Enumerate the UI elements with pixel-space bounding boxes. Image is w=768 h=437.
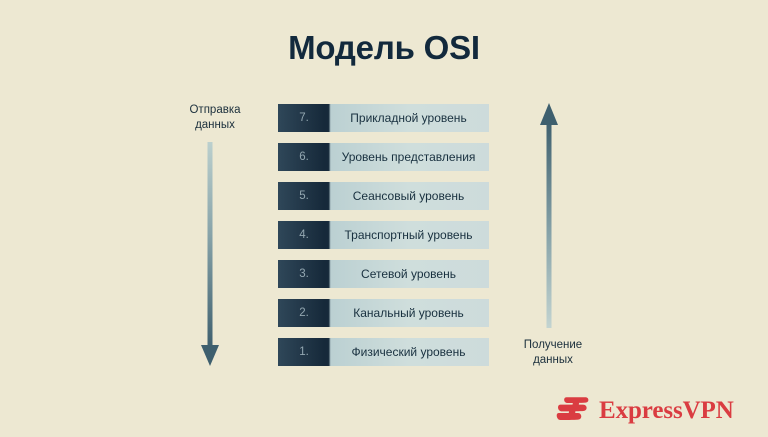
osi-layer-label: Канальный уровень — [330, 299, 489, 327]
osi-layer-row[interactable]: 6. Уровень представления — [278, 143, 489, 171]
osi-layer-row[interactable]: 7. Прикладной уровень — [278, 104, 489, 132]
osi-layer-stack: 7. Прикладной уровень 6. Уровень предста… — [278, 104, 489, 377]
diagram-canvas: Модель OSI Отправка данных 7. Прикладной… — [0, 0, 768, 437]
osi-layer-label: Сеансовый уровень — [330, 182, 489, 210]
osi-layer-row[interactable]: 1. Физический уровень — [278, 338, 489, 366]
send-data-label-line1: Отправка — [150, 103, 280, 118]
expressvpn-e-mark-icon — [556, 396, 590, 424]
send-data-label: Отправка данных — [150, 103, 280, 133]
osi-layer-number: 7. — [278, 104, 330, 132]
send-data-label-line2: данных — [150, 118, 280, 133]
osi-layer-row[interactable]: 4. Транспортный уровень — [278, 221, 489, 249]
expressvpn-logo[interactable]: ExpressVPN — [556, 396, 734, 424]
osi-layer-number: 6. — [278, 143, 330, 171]
page-title: Модель OSI — [0, 28, 768, 68]
receive-data-label-line1: Получение — [488, 338, 618, 353]
osi-layer-label: Прикладной уровень — [330, 104, 489, 132]
osi-layer-row[interactable]: 5. Сеансовый уровень — [278, 182, 489, 210]
osi-layer-label: Уровень представления — [330, 143, 489, 171]
osi-layer-label: Транспортный уровень — [330, 221, 489, 249]
osi-layer-number: 2. — [278, 299, 330, 327]
osi-layer-number: 5. — [278, 182, 330, 210]
expressvpn-wordmark: ExpressVPN — [599, 397, 734, 424]
osi-layer-number: 3. — [278, 260, 330, 288]
osi-layer-number: 1. — [278, 338, 330, 366]
osi-layer-row[interactable]: 2. Канальный уровень — [278, 299, 489, 327]
receive-data-label-line2: данных — [488, 353, 618, 368]
arrow-down-icon — [199, 142, 221, 375]
arrow-up-icon — [538, 100, 560, 335]
receive-data-label: Получение данных — [488, 338, 618, 368]
osi-layer-number: 4. — [278, 221, 330, 249]
osi-layer-row[interactable]: 3. Сетевой уровень — [278, 260, 489, 288]
osi-layer-label: Сетевой уровень — [330, 260, 489, 288]
osi-layer-label: Физический уровень — [330, 338, 489, 366]
